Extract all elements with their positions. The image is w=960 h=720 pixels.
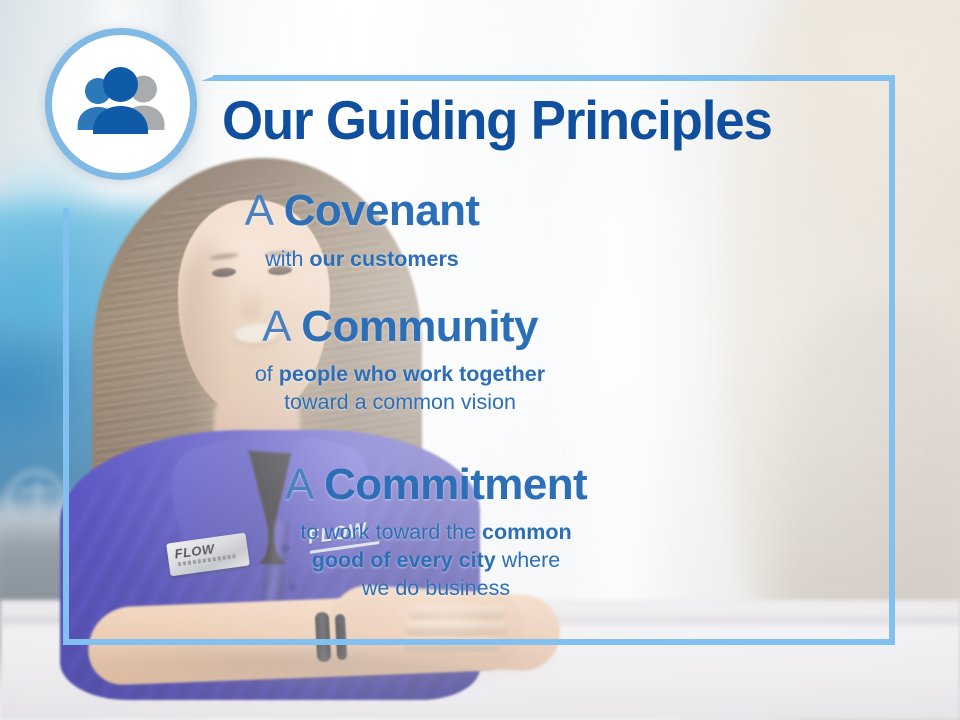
principle-heading: A Covenant	[0, 188, 724, 234]
principle-commitment: A Commitment to work toward the commongo…	[0, 462, 872, 603]
principle-keyword: Commitment	[324, 460, 587, 509]
poster-canvas: FLOW FLOW	[0, 0, 960, 720]
principle-subtext: with our customers	[0, 246, 724, 274]
principle-subtext: to work toward the commongood of every c…	[0, 519, 872, 603]
principle-lead: A	[285, 460, 324, 509]
principle-keyword: Community	[301, 302, 538, 351]
principle-covenant: A Covenant with our customers	[0, 188, 724, 274]
principle-heading: A Community	[0, 304, 800, 350]
principle-subtext: of people who work togethertoward a comm…	[0, 361, 800, 417]
principle-lead: A	[262, 302, 301, 351]
poster-text: Our Guiding Principles A Covenant with o…	[0, 0, 960, 720]
principle-heading: A Commitment	[0, 462, 872, 508]
principle-community: A Community of people who work togethert…	[0, 304, 800, 417]
page-title: Our Guiding Principles	[222, 93, 772, 148]
principle-lead: A	[245, 186, 284, 235]
principle-keyword: Covenant	[284, 186, 480, 235]
